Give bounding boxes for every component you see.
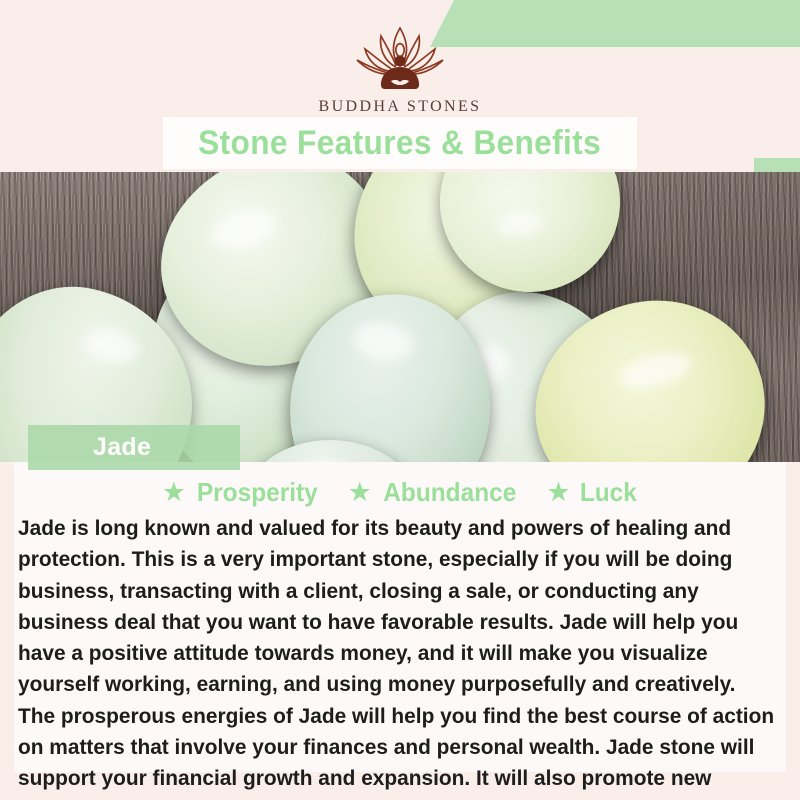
keyword-label: Prosperity [197,477,318,508]
stone-name-tag: Jade [28,425,240,470]
keyword-list: ★ Prosperity ★ Abundance ★ Luck [14,477,786,508]
star-icon: ★ [348,479,372,506]
content-panel: ★ Prosperity ★ Abundance ★ Luck Jade is … [0,462,800,800]
description-text: Jade is long known and valued for its be… [18,513,776,800]
star-icon: ★ [162,479,186,506]
content-inner: ★ Prosperity ★ Abundance ★ Luck Jade is … [14,462,786,772]
brand-name: BUDDHA STONES [0,98,800,116]
title-banner: Stone Features & Benefits [163,117,637,169]
lotus-meditation-icon [335,22,465,94]
brand-block: BUDDHA STONES [0,22,800,116]
keyword-item: ★ Prosperity [162,477,322,508]
poster-root: BUDDHA STONES Stone Features & Benefits [0,0,800,800]
keyword-item: ★ Luck [546,477,638,508]
stone-photo [0,172,800,462]
star-icon: ★ [546,479,570,506]
keyword-label: Luck [579,477,636,508]
page-title: Stone Features & Benefits [199,124,602,163]
stone-name-label: Jade [93,433,151,462]
keyword-label: Abundance [383,477,516,508]
keyword-item: ★ Abundance [348,477,521,508]
